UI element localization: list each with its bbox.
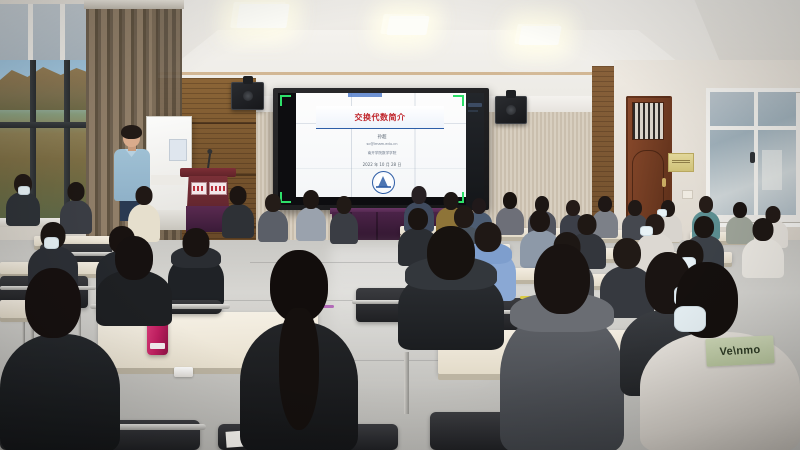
slide-top-accent (348, 93, 382, 97)
student-foreground (240, 250, 358, 450)
hillside-view (0, 60, 98, 110)
bottle-label (150, 343, 165, 349)
student (296, 190, 326, 238)
presenter-hair (121, 125, 142, 139)
curtain-rod (84, 0, 184, 9)
chair-leg (404, 352, 409, 414)
slide-email: sc@lmam.edu.cn (296, 142, 468, 146)
whiteboard-note (169, 139, 187, 161)
ceiling-panel-light (518, 26, 561, 45)
window-interior-reflection (762, 150, 782, 190)
student (96, 236, 172, 322)
slide-title-box: 交换代数简介 (316, 106, 444, 129)
screen-control-sidebar[interactable] (466, 93, 484, 205)
student (222, 186, 254, 236)
window-latch[interactable] (750, 152, 755, 163)
jacket-brand-patch: Ve\nmo (705, 335, 774, 367)
student (330, 196, 358, 242)
university-emblem-icon (372, 171, 395, 194)
window-mullion (710, 126, 796, 130)
ceiling-panel-light (236, 4, 289, 28)
speaker-cone (243, 91, 253, 101)
lectern-top (180, 168, 236, 177)
jacket-brand-name: Ve\nmo (719, 344, 761, 358)
door-lattice-window (632, 102, 664, 140)
speaker-cone (506, 105, 516, 115)
wall-speaker (495, 96, 527, 124)
student (258, 194, 288, 240)
screen-share-marker-icon (280, 95, 291, 106)
wall-notice-sign[interactable] (668, 153, 694, 172)
student-foreground (500, 244, 624, 450)
sidebar-button[interactable] (468, 103, 482, 107)
lectern-sign (191, 182, 207, 195)
wall-speaker (231, 82, 264, 110)
left-clerestory-window (0, 4, 92, 65)
door-handle[interactable] (662, 178, 666, 187)
sidebar-button[interactable] (468, 110, 478, 112)
speaker-mount (506, 90, 516, 98)
student (168, 228, 224, 304)
slide-date: 2022 年 10 月 28 日 (296, 162, 468, 168)
speaker-mount (243, 76, 253, 84)
screen-surface[interactable]: 交换代数简介 孙超 sc@lmam.edu.cn 南开学院数学学院 2022 年… (278, 93, 484, 205)
student-foreground (398, 226, 504, 346)
slide-presenter: 孙超 (296, 134, 468, 140)
ceiling-panel-light (386, 16, 429, 35)
student (6, 174, 40, 224)
slide-affiliation: 南开学院数学学院 (296, 151, 468, 156)
presentation-slide: 交换代数简介 孙超 sc@lmam.edu.cn 南开学院数学学院 2022 年… (296, 93, 468, 197)
photo-scene: 交换代数简介 孙超 sc@lmam.edu.cn 南开学院数学学院 2022 年… (0, 0, 800, 450)
tissue-packet[interactable] (174, 367, 193, 377)
screen-share-marker-icon (453, 95, 464, 106)
slide-title: 交换代数简介 (355, 112, 406, 123)
